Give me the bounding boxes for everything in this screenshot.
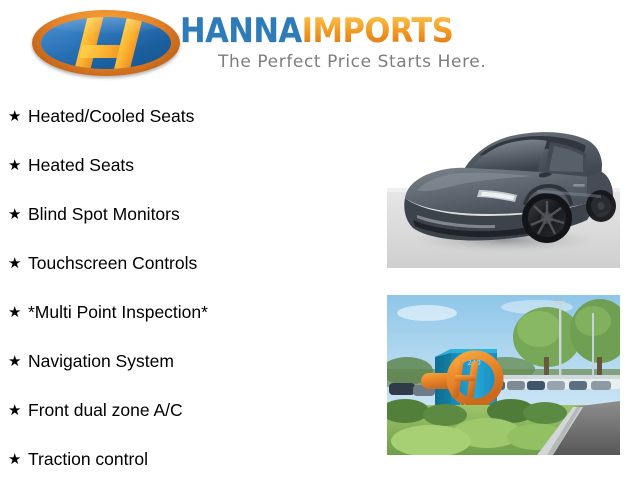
list-item: ★ Traction control <box>0 435 380 484</box>
list-item-label: Blind Spot Monitors <box>28 204 180 225</box>
brand-header: HANNAIMPORTS The Perfect Price Starts He… <box>0 0 640 88</box>
list-item: ★ Front dual zone A/C <box>0 386 380 435</box>
star-bullet-icon: ★ <box>8 109 28 124</box>
dealership-illustration: 240 Hanna Imports <box>387 295 620 455</box>
brand-wordmark: HANNAIMPORTS <box>180 14 453 48</box>
list-item-label: Navigation System <box>28 351 174 372</box>
list-item-label: Front dual zone A/C <box>28 400 183 421</box>
star-bullet-icon: ★ <box>8 158 28 173</box>
list-item-label: Touchscreen Controls <box>28 253 197 274</box>
logo-ring <box>32 10 180 76</box>
dealership-photo[interactable]: 240 Hanna Imports <box>387 295 620 455</box>
star-bullet-icon: ★ <box>8 452 28 467</box>
list-item: ★ Touchscreen Controls <box>0 239 380 288</box>
star-bullet-icon: ★ <box>8 305 28 320</box>
vehicle-feature-list: ★ Heated/Cooled Seats ★ Heated Seats ★ B… <box>0 92 380 484</box>
hanna-oval-h-logo-icon <box>32 10 180 76</box>
list-item-label: Heated Seats <box>28 155 134 176</box>
brand-wordmark-imports: IMPORTS <box>302 11 454 51</box>
brand-wordmark-hanna: HANNA <box>180 11 302 51</box>
star-bullet-icon: ★ <box>8 207 28 222</box>
list-item-label: *Multi Point Inspection* <box>28 302 208 323</box>
star-bullet-icon: ★ <box>8 256 28 271</box>
logo-oval-field <box>41 17 171 69</box>
list-item: ★ *Multi Point Inspection* <box>0 288 380 337</box>
brand-tagline: The Perfect Price Starts Here. <box>218 52 486 72</box>
star-bullet-icon: ★ <box>8 403 28 418</box>
list-item-label: Traction control <box>28 449 148 470</box>
list-item-label: Heated/Cooled Seats <box>28 106 194 127</box>
star-bullet-icon: ★ <box>8 354 28 369</box>
logo-h-left-stroke <box>70 17 104 69</box>
vehicle-illustration <box>387 94 620 268</box>
list-item: ★ Blind Spot Monitors <box>0 190 380 239</box>
list-item: ★ Navigation System <box>0 337 380 386</box>
vehicle-photo[interactable] <box>387 94 620 268</box>
list-item: ★ Heated Seats <box>0 141 380 190</box>
logo-h-right-stroke <box>110 17 144 69</box>
list-item: ★ Heated/Cooled Seats <box>0 92 380 141</box>
